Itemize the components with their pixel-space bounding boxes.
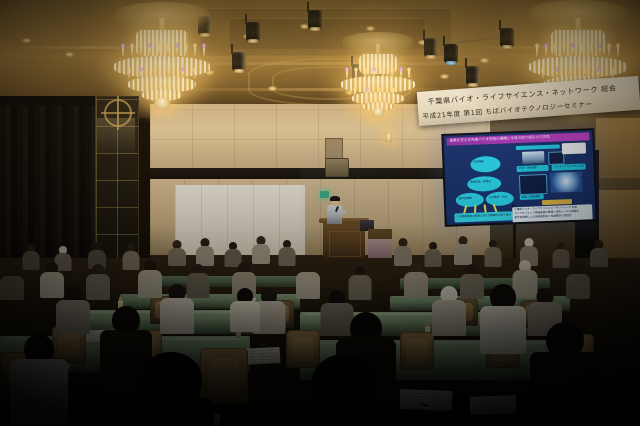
attendee — [296, 262, 320, 299]
attendee-foreground — [530, 322, 600, 426]
attendee — [138, 260, 162, 298]
slide-image-box — [519, 174, 548, 195]
slide-label: 計測・分析技術 — [519, 166, 537, 170]
right-wall-panel — [596, 118, 640, 178]
attendee — [122, 244, 139, 270]
side-table-cloth — [368, 239, 392, 259]
lectern-panel — [329, 231, 361, 257]
attendee-foreground — [10, 334, 68, 426]
screen-stand — [513, 223, 516, 263]
emergency-exit-sign — [320, 191, 329, 198]
attendee — [590, 240, 608, 267]
chandelier-left — [110, 0, 214, 108]
attendee — [160, 284, 194, 334]
slide-label: 人材育成・交流 — [489, 195, 507, 199]
presentation-slide: 産業を支える先端バイオ技術の展開と今後の取り組みの方向性 研究開発 技術移転・実… — [443, 130, 595, 225]
curtain-rail — [0, 96, 95, 106]
attendee-foreground — [296, 354, 394, 426]
attendee — [566, 264, 590, 299]
attendee — [252, 236, 270, 264]
attendee-foreground — [128, 352, 214, 426]
projection-screen: 産業を支える先端バイオ技術の展開と今後の取り組みの方向性 研究開発 技術移転・実… — [441, 128, 597, 227]
wall-sconce — [385, 132, 392, 142]
attendee — [22, 244, 39, 270]
slide-ellipse — [470, 156, 501, 173]
slide-title-text: 産業を支える先端バイオ技術の展開と今後の取り組みの方向性 — [449, 135, 550, 144]
attendee — [404, 262, 428, 298]
wall-speaker — [325, 158, 349, 177]
slide-label: 産学官連携 — [459, 197, 472, 201]
slide-bar — [516, 144, 560, 150]
attendee — [484, 240, 501, 267]
printed-handout — [400, 389, 453, 411]
attendee — [0, 266, 24, 300]
attendee-foreground — [230, 288, 260, 332]
presenter-hair — [330, 196, 340, 201]
chandelier-center — [338, 30, 418, 114]
attendee-foreground — [480, 284, 526, 354]
slide-label: 研究開発 — [473, 160, 483, 164]
attendee — [168, 240, 186, 266]
attendee — [432, 286, 466, 336]
banquet-chair — [400, 332, 434, 370]
attendee — [56, 286, 90, 334]
attendee — [454, 236, 472, 265]
printed-handout — [470, 395, 517, 415]
slide-logo-box — [562, 142, 586, 154]
slide-photo — [550, 172, 583, 193]
conference-hall-photo: 千葉県バイオ・ライフサイエンス・ネットワーク 総会 平成21年度 第1回 ちばバ… — [0, 0, 640, 426]
attendee — [278, 240, 295, 266]
slide-laptop-image — [522, 151, 544, 164]
slide-label: 創薬・診断技術 — [522, 195, 540, 199]
window-medallion-ornament — [104, 99, 132, 127]
attendee — [196, 238, 214, 266]
